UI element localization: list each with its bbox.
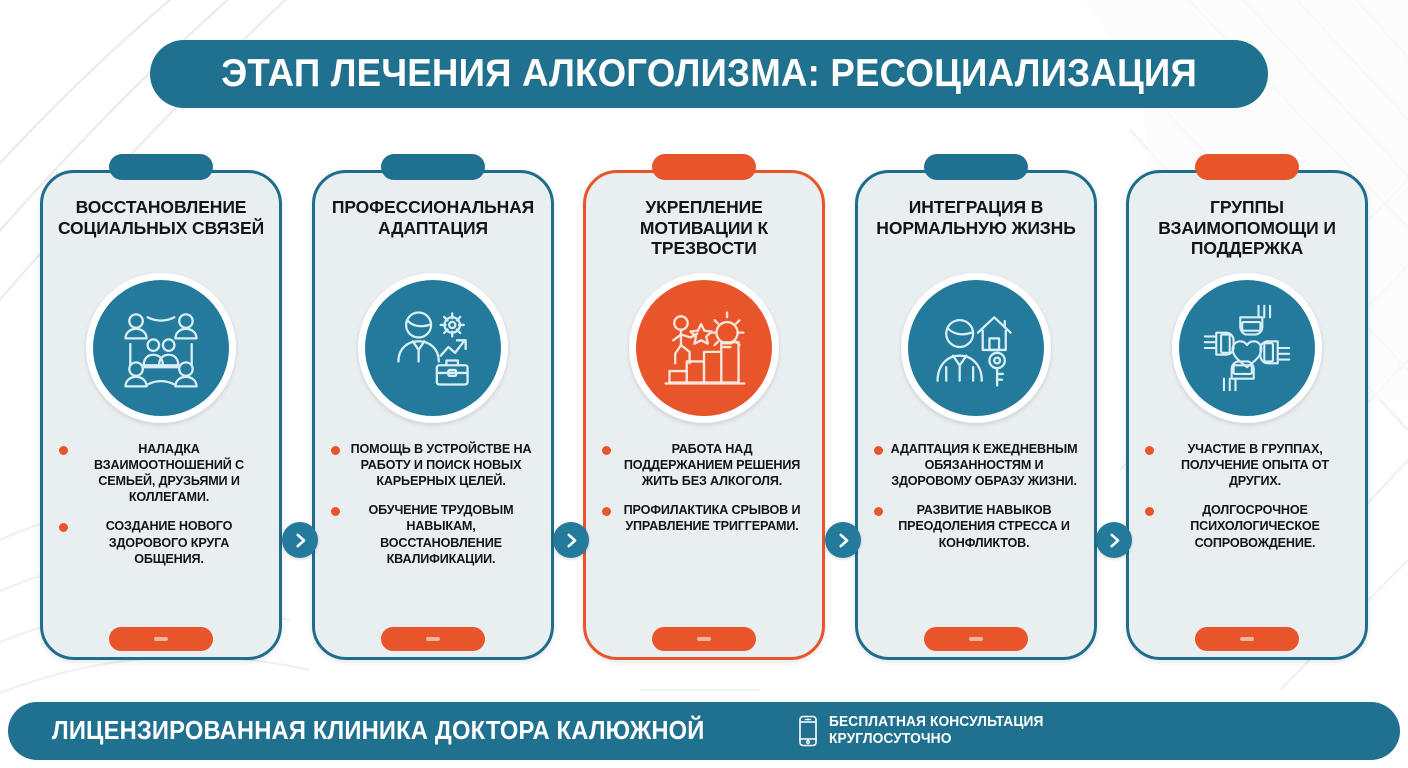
man-house-key-icon [908,280,1044,416]
stage-card[interactable]: ГРУППЫ ВЗАИМОПОМОЩИ И ПОДДЕРЖКА [1126,170,1368,660]
stage-bullet-list: АДАПТАЦИЯ К ЕЖЕДНЕВНЫМ ОБЯЗАННОСТЯМ И ЗД… [870,441,1082,551]
bullet-text: СОЗДАНИЕ НОВОГО ЗДОРОВОГО КРУГА ОБЩЕНИЯ. [75,518,263,566]
clinic-name: ЛИЦЕНЗИРОВАННАЯ КЛИНИКА ДОКТОРА КАЛЮЖНОЙ [52,717,704,746]
stage-card-slot: ГРУППЫ ВЗАИМОПОМОЩИ И ПОДДЕРЖКА [1126,150,1368,680]
chevron-right-icon [282,522,318,558]
bullet-dot-icon [874,507,883,516]
header-banner: ЭТАП ЛЕЧЕНИЯ АЛКОГОЛИЗМА: РЕСОЦИАЛИЗАЦИЯ [150,40,1268,108]
stage-card-slot: ИНТЕГРАЦИЯ В НОРМАЛЬНУЮ ЖИЗНЬ [855,150,1097,680]
list-item: ПРОФИЛАКТИКА СРЫВОВ И УПРАВЛЕНИЕ ТРИГГЕР… [602,502,806,534]
climbing-stairs-goal-icon [636,280,772,416]
stage-card-slot: ПРОФЕССИОНАЛЬНАЯ АДАПТАЦИЯ [312,150,554,680]
list-item: ОБУЧЕНИЕ ТРУДОВЫМ НАВЫКАМ, ВОССТАНОВЛЕНИ… [331,502,535,566]
bullet-text: ПРОФИЛАКТИКА СРЫВОВ И УПРАВЛЕНИЕ ТРИГГЕР… [618,502,806,534]
card-bottom-tab [381,627,485,651]
stage-card-title: ПРОФЕССИОНАЛЬНАЯ АДАПТАЦИЯ [327,197,539,259]
stage-card[interactable]: УКРЕПЛЕНИЕ МОТИВАЦИИ К ТРЕЗВОСТИ [583,170,825,660]
contact-line-2: КРУГЛОСУТОЧНО [829,731,1044,748]
list-item: УЧАСТИЕ В ГРУППАХ, ПОЛУЧЕНИЕ ОПЫТА ОТ ДР… [1145,441,1349,489]
list-item: СОЗДАНИЕ НОВОГО ЗДОРОВОГО КРУГА ОБЩЕНИЯ. [59,518,263,566]
footer-banner: ЛИЦЕНЗИРОВАННАЯ КЛИНИКА ДОКТОРА КАЛЮЖНОЙ… [8,702,1400,760]
bullet-dot-icon [874,446,883,455]
stage-card[interactable]: ВОССТАНОВЛЕНИЕ СОЦИАЛЬНЫХ СВЯЗЕЙ [40,170,282,660]
businessman-career-icon [365,280,501,416]
stage-card-title: ГРУППЫ ВЗАИМОПОМОЩИ И ПОДДЕРЖКА [1141,197,1353,259]
chevron-right-icon [553,522,589,558]
bullet-text: РАБОТА НАД ПОДДЕРЖАНИЕМ РЕШЕНИЯ ЖИТЬ БЕЗ… [618,441,806,489]
stage-card[interactable]: ПРОФЕССИОНАЛЬНАЯ АДАПТАЦИЯ [312,170,554,660]
stage-icon-frame [901,273,1051,423]
stage-bullet-list: РАБОТА НАД ПОДДЕРЖАНИЕМ РЕШЕНИЯ ЖИТЬ БЕЗ… [598,441,810,535]
contact-line-1: БЕСПЛАТНАЯ КОНСУЛЬТАЦИЯ [829,714,1044,731]
list-item: РАЗВИТИЕ НАВЫКОВ ПРЕОДОЛЕНИЯ СТРЕССА И К… [874,502,1078,550]
mobile-phone-icon [798,715,818,747]
bullet-dot-icon [331,446,340,455]
bullet-text: ОБУЧЕНИЕ ТРУДОВЫМ НАВЫКАМ, ВОССТАНОВЛЕНИ… [347,502,535,566]
list-item: НАЛАДКА ВЗАИМООТНОШЕНИЙ С СЕМЬЕЙ, ДРУЗЬЯ… [59,441,263,505]
stage-card-title: ИНТЕГРАЦИЯ В НОРМАЛЬНУЮ ЖИЗНЬ [870,197,1082,259]
card-top-tab [652,154,756,180]
stage-icon-frame [86,273,236,423]
list-item: ДОЛГОСРОЧНОЕ ПСИХОЛОГИЧЕСКОЕ СОПРОВОЖДЕН… [1145,502,1349,550]
bullet-dot-icon [602,446,611,455]
card-top-tab [381,154,485,180]
card-bottom-tab [109,627,213,651]
bullet-text: НАЛАДКА ВЗАИМООТНОШЕНИЙ С СЕМЬЕЙ, ДРУЗЬЯ… [75,441,263,505]
chevron-right-icon [1096,522,1132,558]
card-bottom-tab [924,627,1028,651]
bullet-text: ДОЛГОСРОЧНОЕ ПСИХОЛОГИЧЕСКОЕ СОПРОВОЖДЕН… [1161,502,1349,550]
stage-card[interactable]: ИНТЕГРАЦИЯ В НОРМАЛЬНУЮ ЖИЗНЬ [855,170,1097,660]
stage-bullet-list: УЧАСТИЕ В ГРУППАХ, ПОЛУЧЕНИЕ ОПЫТА ОТ ДР… [1141,441,1353,551]
hands-heart-support-icon [1179,280,1315,416]
card-top-tab [924,154,1028,180]
bullet-text: РАЗВИТИЕ НАВЫКОВ ПРЕОДОЛЕНИЯ СТРЕССА И К… [890,502,1078,550]
stage-card-title: УКРЕПЛЕНИЕ МОТИВАЦИИ К ТРЕЗВОСТИ [598,197,810,259]
card-bottom-tab [652,627,756,651]
stage-icon-frame [1172,273,1322,423]
bullet-dot-icon [59,446,68,455]
card-top-tab [109,154,213,180]
list-item: АДАПТАЦИЯ К ЕЖЕДНЕВНЫМ ОБЯЗАННОСТЯМ И ЗД… [874,441,1078,489]
contact-lines: БЕСПЛАТНАЯ КОНСУЛЬТАЦИЯ КРУГЛОСУТОЧНО [829,714,1055,748]
people-network-icon [93,280,229,416]
list-item: РАБОТА НАД ПОДДЕРЖАНИЕМ РЕШЕНИЯ ЖИТЬ БЕЗ… [602,441,806,489]
bullet-dot-icon [59,523,68,532]
bullet-dot-icon [331,507,340,516]
stages-row: ВОССТАНОВЛЕНИЕ СОЦИАЛЬНЫХ СВЯЗЕЙ [0,150,1408,680]
bullet-text: АДАПТАЦИЯ К ЕЖЕДНЕВНЫМ ОБЯЗАННОСТЯМ И ЗД… [890,441,1078,489]
stage-card-title: ВОССТАНОВЛЕНИЕ СОЦИАЛЬНЫХ СВЯЗЕЙ [55,197,267,259]
stage-bullet-list: НАЛАДКА ВЗАИМООТНОШЕНИЙ С СЕМЬЕЙ, ДРУЗЬЯ… [55,441,267,567]
stage-bullet-list: ПОМОЩЬ В УСТРОЙСТВЕ НА РАБОТУ И ПОИСК НО… [327,441,539,567]
bullet-dot-icon [602,507,611,516]
bullet-text: ПОМОЩЬ В УСТРОЙСТВЕ НА РАБОТУ И ПОИСК НО… [347,441,535,489]
chevron-right-icon [825,522,861,558]
stage-icon-frame [629,273,779,423]
stage-icon-frame [358,273,508,423]
contact-block[interactable]: БЕСПЛАТНАЯ КОНСУЛЬТАЦИЯ КРУГЛОСУТОЧНО [798,714,1055,748]
card-top-tab [1195,154,1299,180]
list-item: ПОМОЩЬ В УСТРОЙСТВЕ НА РАБОТУ И ПОИСК НО… [331,441,535,489]
bullet-dot-icon [1145,446,1154,455]
bullet-text: УЧАСТИЕ В ГРУППАХ, ПОЛУЧЕНИЕ ОПЫТА ОТ ДР… [1161,441,1349,489]
page-title: ЭТАП ЛЕЧЕНИЯ АЛКОГОЛИЗМА: РЕСОЦИАЛИЗАЦИЯ [221,52,1197,96]
card-bottom-tab [1195,627,1299,651]
stage-card-slot: УКРЕПЛЕНИЕ МОТИВАЦИИ К ТРЕЗВОСТИ [583,150,825,680]
bullet-dot-icon [1145,507,1154,516]
stage-card-slot: ВОССТАНОВЛЕНИЕ СОЦИАЛЬНЫХ СВЯЗЕЙ [40,150,282,680]
